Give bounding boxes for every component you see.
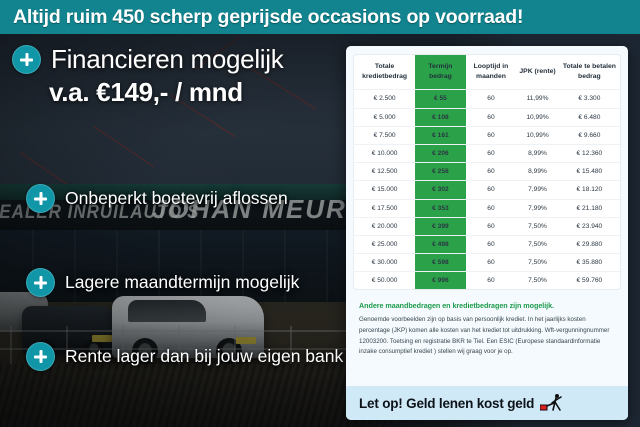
cell-krediet: € 30.000 [354,254,415,272]
cell-totaal: € 15.480 [559,163,620,181]
hero-headline-line2: v.a. €149,- / mnd [49,77,350,108]
benefits-list: Financieren mogelijk v.a. €149,- / mnd O… [0,34,350,427]
cell-jkp: 7,50% [516,272,559,290]
cell-krediet: € 20.000 [354,217,415,235]
disclaimer-title: Andere maandbedragen en kredietbedragen … [359,301,615,310]
cell-looptijd: 60 [466,126,517,144]
cell-jkp: 7,99% [516,181,559,199]
cell-krediet: € 25.000 [354,235,415,253]
promo-banner-page: DEALER INRUILAUTO'S JOHAN MEURE ALTIJD 4… [0,0,640,427]
credit-warning-bar: Let op! Geld lenen kost geld [346,386,628,420]
cell-totaal: € 12.360 [559,144,620,162]
table-row: € 10.000 € 206 60 8,99% € 12.360 [354,144,620,162]
cell-jkp: 10,99% [516,126,559,144]
cell-jkp: 8,99% [516,163,559,181]
cell-totaal: € 3.300 [559,90,620,108]
cell-looptijd: 60 [466,235,517,253]
benefit-label: Lagere maandtermijn mogelijk [65,272,299,293]
cell-looptijd: 60 [466,163,517,181]
hero-finance-claim: Financieren mogelijk v.a. €149,- / mnd [12,44,350,108]
cell-totaal: € 6.480 [559,108,620,126]
cell-termijn: € 108 [415,108,466,126]
cell-termijn: € 161 [415,126,466,144]
cell-krediet: € 50.000 [354,272,415,290]
table-row: € 17.500 € 353 60 7,99% € 21.180 [354,199,620,217]
cell-termijn: € 498 [415,235,466,253]
cell-totaal: € 21.180 [559,199,620,217]
table-row: € 5.000 € 108 60 10,99% € 6.480 [354,108,620,126]
rates-table-container: Totale kredietbedrag Termijn bedrag Loop… [353,54,621,290]
cell-termijn: € 258 [415,163,466,181]
col-header-termijn: Termijn bedrag [415,55,466,90]
cell-krediet: € 15.000 [354,181,415,199]
cell-termijn: € 399 [415,217,466,235]
plus-circle-icon [12,45,41,74]
cell-krediet: € 12.500 [354,163,415,181]
table-row: € 50.000 € 996 60 7,50% € 59.760 [354,272,620,290]
cell-jkp: 10,99% [516,108,559,126]
cell-jkp: 8,99% [516,144,559,162]
benefit-item: Onbeperkt boetevrij aflossen [26,184,288,213]
cell-krediet: € 5.000 [354,108,415,126]
hero-headline-line1: Financieren mogelijk [51,44,283,75]
cell-termijn: € 598 [415,254,466,272]
cell-looptijd: 60 [466,108,517,126]
cell-looptijd: 60 [466,181,517,199]
table-row: € 25.000 € 498 60 7,50% € 29.880 [354,235,620,253]
table-row: € 12.500 € 258 60 8,99% € 15.480 [354,163,620,181]
rates-table: Totale kredietbedrag Termijn bedrag Loop… [354,55,620,289]
cell-totaal: € 35.880 [559,254,620,272]
cell-looptijd: 60 [466,199,517,217]
cell-looptijd: 60 [466,90,517,108]
table-row: € 7.500 € 161 60 10,99% € 9.660 [354,126,620,144]
cell-jkp: 7,50% [516,254,559,272]
table-row: € 2.500 € 55 60 11,99% € 3.300 [354,90,620,108]
table-header-row: Totale kredietbedrag Termijn bedrag Loop… [354,55,620,90]
cell-krediet: € 7.500 [354,126,415,144]
man-pulling-block-icon [540,394,564,412]
plus-circle-icon [26,184,55,213]
cell-krediet: € 2.500 [354,90,415,108]
col-header-jkp: JPK (rente) [516,55,559,90]
cell-krediet: € 17.500 [354,199,415,217]
cell-jkp: 7,99% [516,199,559,217]
cell-termijn: € 55 [415,90,466,108]
cell-termijn: € 302 [415,181,466,199]
col-header-totaal: Totale te betalen bedrag [559,55,620,90]
disclaimer-block: Andere maandbedragen en kredietbedragen … [359,301,615,358]
benefit-item: Lagere maandtermijn mogelijk [26,268,299,297]
cell-termijn: € 353 [415,199,466,217]
cell-looptijd: 60 [466,272,517,290]
plus-circle-icon [26,268,55,297]
col-header-looptijd: Looptijd in maanden [466,55,517,90]
benefit-item: Rente lager dan bij jouw eigen bank [26,342,343,371]
rates-table-body: € 2.500 € 55 60 11,99% € 3.300 € 5.000 €… [354,90,620,290]
cell-termijn: € 206 [415,144,466,162]
disclaimer-body: Genoemde voorbeelden zijn op basis van p… [359,315,615,358]
benefit-label: Onbeperkt boetevrij aflossen [65,188,288,209]
cell-totaal: € 29.880 [559,235,620,253]
cell-jkp: 11,99% [516,90,559,108]
cell-looptijd: 60 [466,217,517,235]
top-banner: Altijd ruim 450 scherp geprijsde occasio… [0,0,640,34]
cell-totaal: € 59.760 [559,272,620,290]
table-row: € 30.000 € 598 60 7,50% € 35.880 [354,254,620,272]
cell-krediet: € 10.000 [354,144,415,162]
top-banner-headline: Altijd ruim 450 scherp geprijsde occasio… [13,6,523,29]
cell-totaal: € 9.660 [559,126,620,144]
cell-looptijd: 60 [466,144,517,162]
cell-jkp: 7,50% [516,235,559,253]
cell-totaal: € 23.940 [559,217,620,235]
table-row: € 20.000 € 399 60 7,50% € 23.940 [354,217,620,235]
cell-termijn: € 996 [415,272,466,290]
col-header-krediet: Totale kredietbedrag [354,55,415,90]
benefit-label: Rente lager dan bij jouw eigen bank [65,346,343,367]
cell-totaal: € 18.120 [559,181,620,199]
finance-rates-card: Totale kredietbedrag Termijn bedrag Loop… [346,46,628,420]
table-row: € 15.000 € 302 60 7,99% € 18.120 [354,181,620,199]
cell-jkp: 7,50% [516,217,559,235]
credit-warning-text: Let op! Geld lenen kost geld [359,396,534,411]
cell-looptijd: 60 [466,254,517,272]
plus-circle-icon [26,342,55,371]
